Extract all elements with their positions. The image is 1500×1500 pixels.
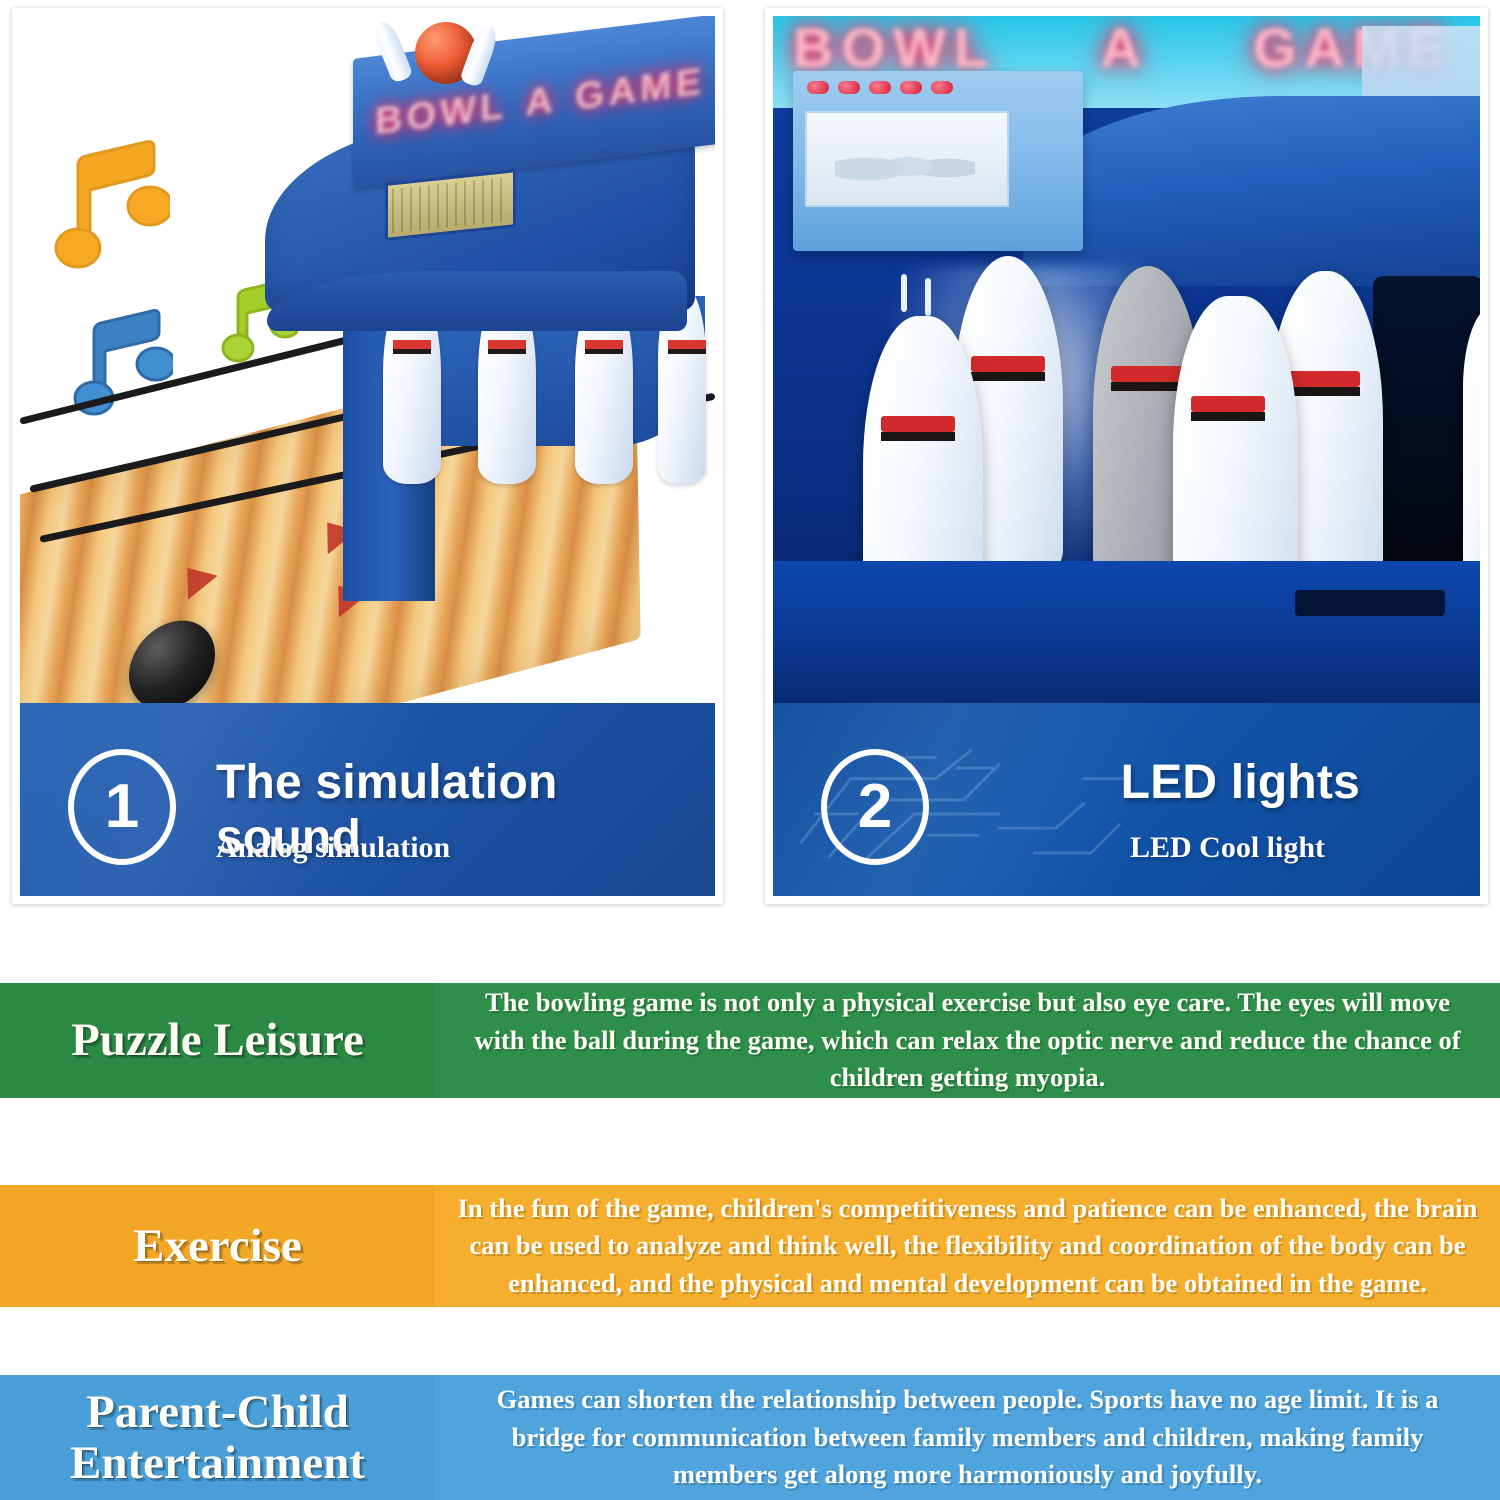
machine-deck-2 xyxy=(1023,96,1480,286)
console-button-icon xyxy=(869,81,891,94)
feature-card-1[interactable]: BOWL A GAME 1 The xyxy=(12,8,723,904)
step-badge-2: 2 xyxy=(821,749,929,865)
feature-label-parent-child: Parent-Child Entertainment xyxy=(0,1375,435,1500)
caption-subtitle-2: LED Cool light xyxy=(1130,831,1325,865)
ball-return-slot xyxy=(1295,590,1445,616)
console-screen xyxy=(805,111,1009,207)
console-button-icon xyxy=(838,81,860,94)
feature-text-body: The bowling game is not only a physical … xyxy=(458,984,1478,1097)
feature-label-exercise: Exercise xyxy=(0,1185,435,1307)
feature-card-2[interactable]: BOWL A GAME xyxy=(765,8,1488,904)
music-note-orange-icon xyxy=(50,136,170,276)
logo-pin-left-icon xyxy=(370,18,414,84)
feature-band-exercise: Exercise In the fun of the game, childre… xyxy=(0,1185,1500,1307)
machine-deck-rim xyxy=(267,271,687,331)
control-console xyxy=(793,71,1083,251)
console-button-icon xyxy=(900,81,922,94)
caption-bar-2: 2 LED lights LED Cool light xyxy=(773,703,1480,896)
pin-spike xyxy=(901,274,907,312)
feature-text-exercise: In the fun of the game, children's compe… xyxy=(435,1185,1500,1307)
led-lights-photo: BOWL A GAME xyxy=(773,16,1480,711)
feature-card-2-inner: BOWL A GAME xyxy=(773,16,1480,896)
feature-label-puzzle-leisure: Puzzle Leisure xyxy=(0,983,435,1098)
feature-text-body: In the fun of the game, children's compe… xyxy=(458,1190,1478,1303)
bowling-machine-photo: BOWL A GAME xyxy=(20,16,715,711)
console-button-icon xyxy=(807,81,829,94)
ball-and-pins-logo xyxy=(377,18,507,104)
pin-spike xyxy=(925,278,931,316)
console-buttons xyxy=(807,81,953,94)
caption-title-2: LED lights xyxy=(1121,755,1360,810)
sign-word-mid: A xyxy=(1100,16,1148,80)
bowling-ball xyxy=(128,611,215,711)
lane-arrow-icon xyxy=(187,560,218,600)
feature-text-body: Games can shorten the relationship betwe… xyxy=(458,1381,1478,1494)
feature-image-row: BOWL A GAME 1 The xyxy=(0,0,1500,912)
machine-floor xyxy=(773,561,1480,711)
feature-text-parent-child: Games can shorten the relationship betwe… xyxy=(435,1375,1500,1500)
caption-bar-1: 1 The simulation sound Analog simulation xyxy=(20,703,715,896)
console-button-icon xyxy=(931,81,953,94)
caption-subtitle-1: Analog simulation xyxy=(216,831,691,865)
sign-word-right: GAME xyxy=(575,60,705,119)
feature-band-puzzle-leisure: Puzzle Leisure The bowling game is not o… xyxy=(0,983,1500,1098)
bowling-machine: BOWL A GAME xyxy=(265,26,715,586)
feature-text-puzzle-leisure: The bowling game is not only a physical … xyxy=(435,983,1500,1098)
step-badge-1: 1 xyxy=(68,749,176,865)
sign-word-mid: A xyxy=(525,78,556,125)
feature-card-1-inner: BOWL A GAME 1 The xyxy=(20,16,715,896)
sign-word-left: BOWL xyxy=(793,16,996,80)
feature-band-parent-child: Parent-Child Entertainment Games can sho… xyxy=(0,1375,1500,1500)
